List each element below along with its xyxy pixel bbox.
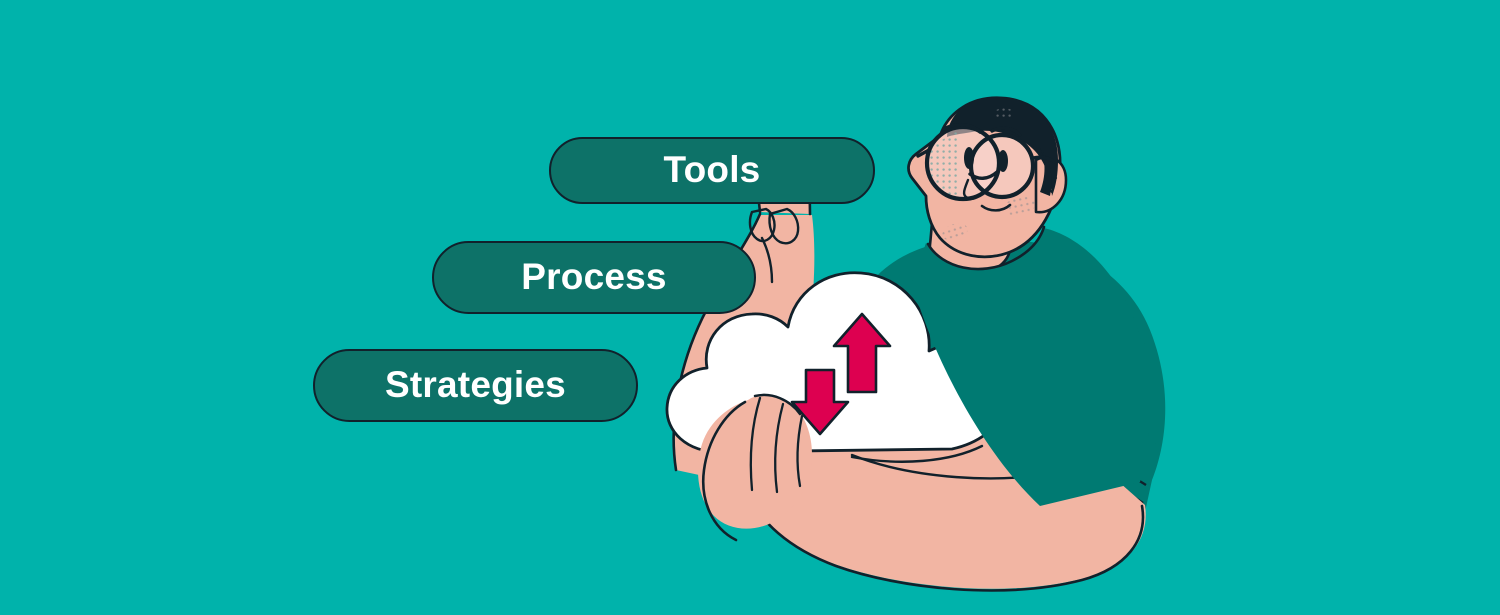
- pill-button-strategies[interactable]: Strategies: [313, 349, 638, 422]
- pill-button-tools[interactable]: Tools: [549, 137, 875, 204]
- pill-label-strategies: Strategies: [385, 366, 566, 405]
- pill-label-process: Process: [521, 258, 666, 297]
- pill-button-process[interactable]: Process: [432, 241, 756, 314]
- pill-label-tools: Tools: [664, 151, 761, 190]
- illustration-canvas: Tools Process Strategies: [0, 0, 1500, 615]
- eye-left: [964, 147, 974, 169]
- illustration-artwork: [0, 0, 1500, 615]
- eye-right: [998, 150, 1008, 172]
